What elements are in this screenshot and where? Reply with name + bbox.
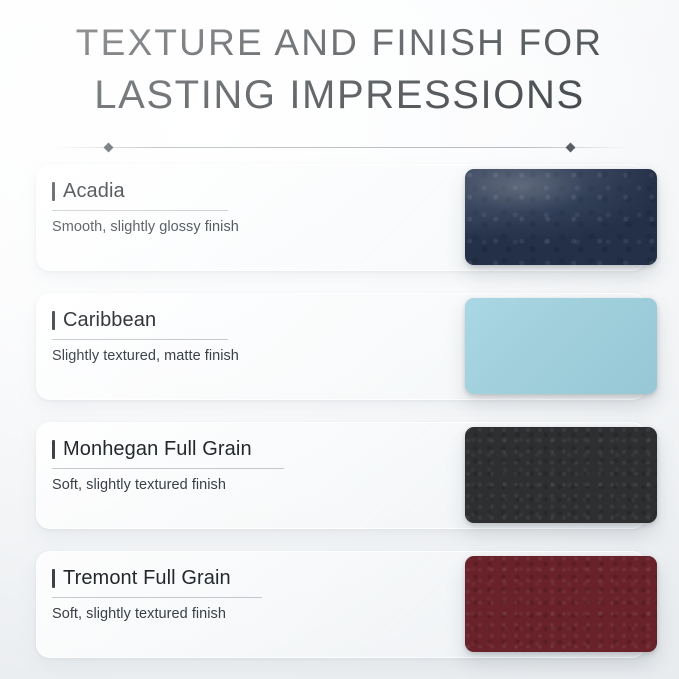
title-line-1: TEXTURE AND FINISH FOR [0,24,679,61]
material-text: Tremont Full Grain Soft, slightly textur… [52,567,382,622]
material-text: Acadia Smooth, slightly glossy finish [52,180,382,235]
accent-bar-icon [52,440,55,459]
material-name-wrap: Caribbean [52,309,382,332]
material-description: Smooth, slightly glossy finish [52,219,382,235]
diamond-icon-right [566,143,576,153]
accent-bar-icon [52,311,55,330]
list-item: Caribbean Slightly textured, matte finis… [0,293,679,408]
name-underline [52,597,262,598]
material-description: Slightly textured, matte finish [52,348,382,364]
material-swatch [465,556,657,652]
accent-bar-icon [52,182,55,201]
swatch-gloss-overlay [465,169,657,265]
material-name-wrap: Acadia [52,180,382,203]
material-swatch [465,169,657,265]
material-name: Monhegan Full Grain [63,438,252,461]
material-name: Acadia [63,180,125,203]
material-text: Caribbean Slightly textured, matte finis… [52,309,382,364]
material-text: Monhegan Full Grain Soft, slightly textu… [52,438,382,493]
material-name-wrap: Tremont Full Grain [52,567,382,590]
page-title: TEXTURE AND FINISH FOR LASTING IMPRESSIO… [0,24,679,115]
material-description: Soft, slightly textured finish [52,477,382,493]
material-name: Caribbean [63,309,156,332]
name-underline [52,210,228,211]
swatch-pebble-texture [465,556,657,652]
list-item: Acadia Smooth, slightly glossy finish [0,164,679,279]
name-underline [52,468,284,469]
material-description: Soft, slightly textured finish [52,606,382,622]
diamond-icon-left [104,143,114,153]
list-item: Tremont Full Grain Soft, slightly textur… [0,551,679,666]
title-line-2: LASTING IMPRESSIONS [0,75,679,115]
swatch-pebble-texture [465,427,657,523]
title-divider [52,141,627,153]
list-item: Monhegan Full Grain Soft, slightly textu… [0,422,679,537]
divider-line [52,147,627,148]
material-swatch [465,298,657,394]
material-name-wrap: Monhegan Full Grain [52,438,382,461]
material-list: Acadia Smooth, slightly glossy finish Ca… [0,164,679,679]
material-swatch [465,427,657,523]
accent-bar-icon [52,569,55,588]
infographic-page: TEXTURE AND FINISH FOR LASTING IMPRESSIO… [0,0,679,679]
material-name: Tremont Full Grain [63,567,231,590]
swatch-matte-overlay [465,298,657,394]
name-underline [52,339,228,340]
